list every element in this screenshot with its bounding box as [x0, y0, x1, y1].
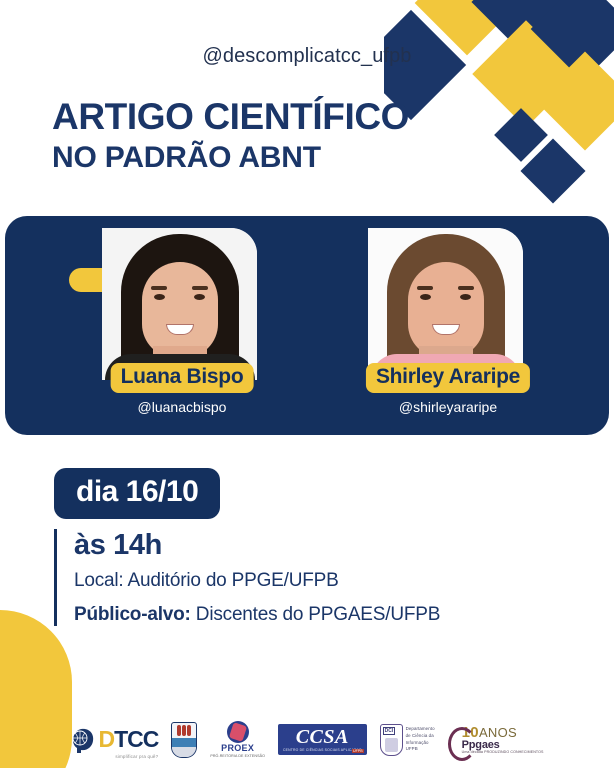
logo-ccsa: CCSA CENTRO DE CIÊNCIAS SOCIAIS APLICADA…	[278, 724, 367, 754]
logo-dci-line4: UFPB	[406, 746, 435, 753]
eyebrow-left-shape	[151, 286, 167, 290]
logo-dtcc-letters-tcc: TCC	[114, 726, 158, 752]
speaker-handle: @shirleyararipe	[399, 399, 497, 415]
logo-dci-acronym: DCI	[383, 727, 396, 735]
logo-proex: PROEX PRÓ-REITORIA DE EXTENSÃO	[210, 721, 265, 758]
speaker-photo-shirley-araripe	[368, 228, 523, 380]
page-title: ARTIGO CIENTÍFICO	[52, 98, 409, 137]
diamond-yellow-icon	[472, 20, 579, 127]
eye-left-shape	[154, 294, 165, 300]
logo-ccsa-institution: UFPB	[352, 749, 364, 753]
event-poster: @descomplicatcc_ufpb ARTIGO CIENTÍFICO N…	[0, 0, 614, 768]
speaker-name-badge: Shirley Araripe	[366, 363, 530, 393]
eyebrow-right-shape	[458, 286, 474, 290]
eye-left-shape	[420, 294, 431, 300]
avatar	[102, 228, 257, 380]
eyebrow-left-shape	[417, 286, 433, 290]
logo-dci-line2: de Ciência da	[406, 733, 435, 740]
logo-dtcc-tagline: simplificar pra quê?	[115, 755, 158, 760]
event-location-value: Auditório do PPGE/UFPB	[128, 570, 339, 591]
dci-mark-icon: DCI	[380, 724, 403, 756]
logo-dci-text: Departamento de Ciência da Informação UF…	[406, 726, 435, 752]
logo-ccsa-name: CCSA	[296, 727, 349, 747]
logo-dci-line1: Departamento	[406, 726, 435, 733]
logo-ccsa-subtitle: CENTRO DE CIÊNCIAS SOCIAIS APLICADAS	[283, 748, 362, 752]
eyebrow-right-shape	[192, 286, 208, 290]
crest-band-shape	[172, 738, 196, 747]
event-audience-value: Discentes do PPGAES/UFPB	[196, 604, 440, 625]
logo-dci: DCI Departamento de Ciência da Informaçã…	[380, 724, 435, 756]
sponsor-logo-bar: DTCCsimplificar pra quê? PROEX PRÓ-REITO…	[0, 721, 614, 758]
instagram-handle: @descomplicatcc_ufpb	[0, 45, 614, 68]
diamond-navy-icon	[520, 138, 585, 203]
torch-shape	[182, 725, 186, 736]
torch-shape	[187, 725, 191, 736]
avatar	[368, 228, 523, 380]
logo-dtcc-text: DTCCsimplificar pra quê?	[98, 728, 158, 751]
diamond-navy-icon	[531, 0, 614, 81]
speaker-card-shirley-araripe: Shirley Araripe @shirleyararipe	[323, 216, 573, 435]
event-date-badge: dia 16/10	[54, 468, 220, 519]
speakers-panel: Luana Bispo @luanacbispo Shirley Ararip	[5, 216, 609, 435]
logo-dci-line3: Informação	[406, 740, 435, 747]
logo-ppgaes-anos: ANOS	[479, 725, 517, 740]
event-audience-label: Público-alvo:	[74, 604, 191, 625]
page-subtitle: NO PADRÃO ABNT	[52, 141, 409, 176]
event-details: às 14h Local: Auditório do PPGE/UFPB Púb…	[54, 529, 440, 626]
speaker-card-luana-bispo: Luana Bispo @luanacbispo	[57, 216, 307, 435]
logo-ufpb-crest	[171, 722, 197, 758]
event-location-label: Local:	[74, 570, 124, 591]
torch-shape	[177, 725, 181, 736]
face-shape	[142, 262, 218, 358]
logo-dtcc: DTCCsimplificar pra quê?	[70, 726, 158, 754]
event-audience: Público-alvo: Discentes do PPGAES/UFPB	[74, 604, 440, 626]
logo-ppgaes: 10ANOS Ppgaes Uma década PRODUZINDO CONH…	[448, 725, 544, 755]
title-block: ARTIGO CIENTÍFICO NO PADRÃO ABNT	[52, 98, 409, 175]
speaker-name-badge: Luana Bispo	[111, 363, 254, 393]
event-location: Local: Auditório do PPGE/UFPB	[74, 570, 440, 592]
logo-proex-subtitle: PRÓ-REITORIA DE EXTENSÃO	[210, 754, 265, 758]
diamond-navy-icon	[494, 108, 548, 162]
book-shape	[385, 738, 398, 752]
logo-dtcc-letter-d: D	[98, 726, 114, 752]
diamond-pattern-decoration	[384, 0, 614, 230]
brain-head-icon	[70, 726, 96, 754]
proex-mark-icon	[227, 721, 249, 743]
speaker-photo-luana-bispo	[102, 228, 257, 380]
logo-proex-name: PROEX	[221, 744, 254, 753]
ufpb-crest-icon	[171, 722, 197, 758]
arc-decoration-icon	[448, 727, 476, 761]
event-time: às 14h	[74, 529, 440, 562]
eye-right-shape	[460, 294, 471, 300]
face-shape	[408, 262, 484, 358]
speaker-handle: @luanacbispo	[138, 399, 227, 415]
crest-base-shape	[172, 747, 196, 757]
eye-right-shape	[194, 294, 205, 300]
